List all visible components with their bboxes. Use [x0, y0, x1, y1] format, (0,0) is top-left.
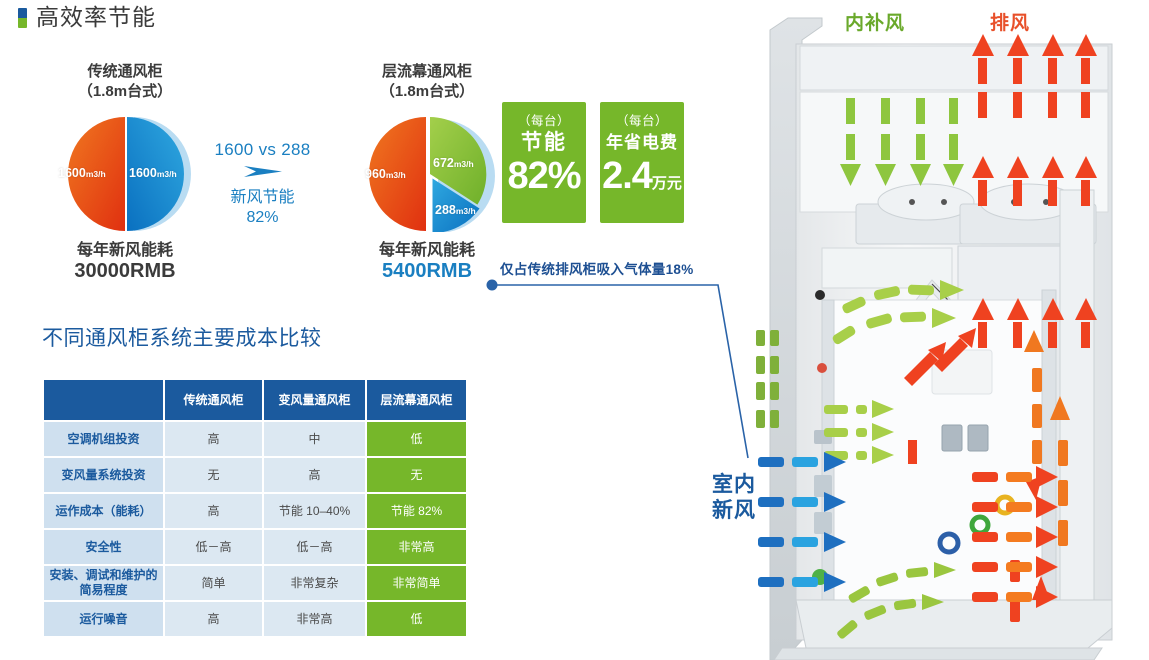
badge-0-big: 82	[507, 155, 547, 197]
badge-energy-saving: （每台） 节能 82%	[502, 102, 586, 223]
badge-0-top: （每台）	[502, 110, 586, 129]
badge-1-unit: 万元	[652, 175, 682, 192]
table-cell-0-1: 中	[264, 422, 365, 456]
table-cell-4-2: 非常简单	[367, 566, 466, 600]
pie-left-footer: 每年新风能耗 30000RMB	[10, 240, 240, 282]
page-title: 高效率节能	[36, 6, 156, 29]
vs-comparison-block: 1600 vs 288 新风节能 82%	[200, 140, 325, 228]
pie-right-chart: 960m3/h 672m3/h 288m3/h	[352, 112, 502, 232]
table-cell-1-1: 高	[264, 458, 365, 492]
label-inlet-air: 内补风	[845, 8, 905, 35]
badge-yearly-saving: （每台） 年省电费 2.4万元	[600, 102, 684, 223]
table-rowhead-4: 安装、调试和维护的简易程度	[44, 566, 163, 600]
table-row: 运行噪音 高 非常高 低	[44, 602, 466, 636]
pie-left-chart: 1600m3/h 1600m3/h	[50, 112, 200, 232]
table-col-header-1: 传统通风柜	[165, 380, 262, 420]
table-row: 安装、调试和维护的简易程度 简单 非常复杂 非常简单	[44, 566, 466, 600]
pie-right-title: 层流幕通风柜	[312, 62, 542, 82]
pie-left-slice-label-1: 1600m3/h	[129, 166, 177, 180]
cost-comparison-table: 传统通风柜 变风量通风柜 层流幕通风柜 空调机组投资 高 中 低 变风量系统投资…	[42, 378, 468, 638]
table-cell-1-0: 无	[165, 458, 262, 492]
table-col-header-3: 层流幕通风柜	[367, 380, 466, 420]
table-cell-1-2: 无	[367, 458, 466, 492]
fume-hood-illustration	[736, 0, 1149, 660]
pie-right-slice-label-0: 960m3/h	[365, 167, 406, 181]
pie-left-foot-value: 30000RMB	[10, 261, 240, 282]
badge-0-value: 82%	[502, 157, 586, 195]
header-square-icon	[18, 8, 27, 28]
vs-benefit-line1: 新风节能	[200, 188, 325, 208]
table-cell-3-1: 低－高	[264, 530, 365, 564]
badge-0-unit: %	[548, 155, 581, 197]
table-rowhead-0: 空调机组投资	[44, 422, 163, 456]
table-cell-2-0: 高	[165, 494, 262, 528]
table-cell-4-0: 简单	[165, 566, 262, 600]
table-rowhead-3: 安全性	[44, 530, 163, 564]
badge-1-top: （每台）	[600, 110, 684, 129]
table-cell-3-0: 低－高	[165, 530, 262, 564]
label-indoor-fresh-air: 室内 新风	[712, 472, 756, 524]
pie-left-foot-label: 每年新风能耗	[10, 240, 240, 261]
table-col-header-2: 变风量通风柜	[264, 380, 365, 420]
label-indoor-line2: 新风	[712, 498, 756, 524]
pie-right-slice-label-2: 288m3/h	[435, 203, 476, 217]
table-cell-0-2: 低	[367, 422, 466, 456]
table-rowhead-2: 运作成本（能耗）	[44, 494, 163, 528]
badge-1-mid: 年省电费	[600, 130, 684, 156]
table-body: 空调机组投资 高 中 低 变风量系统投资 无 高 无 运作成本（能耗） 高 节能…	[44, 422, 466, 636]
fume-hood-diagram-svg	[736, 0, 1149, 660]
vs-ratio-text: 1600 vs 288	[200, 140, 325, 160]
badge-1-value: 2.4万元	[600, 157, 684, 195]
table-row: 空调机组投资 高 中 低	[44, 422, 466, 456]
pie-left-slice-label-0: 1600m3/h	[58, 166, 106, 180]
table-header-row: 传统通风柜 变风量通风柜 层流幕通风柜	[44, 380, 466, 420]
table-cell-2-2: 节能 82%	[367, 494, 466, 528]
table-cell-2-1: 节能 10–40%	[264, 494, 365, 528]
table-row: 变风量系统投资 无 高 无	[44, 458, 466, 492]
callout-leader-line	[484, 272, 764, 472]
page-header: 高效率节能	[18, 6, 156, 29]
pie-left-subtitle: （1.8m台式）	[10, 82, 240, 102]
label-exhaust-air: 排风	[990, 8, 1030, 35]
pie-right-subtitle: （1.8m台式）	[312, 82, 542, 102]
table-rowhead-5: 运行噪音	[44, 602, 163, 636]
table-section-title: 不同通风柜系统主要成本比较	[42, 322, 322, 352]
table-row: 安全性 低－高 低－高 非常高	[44, 530, 466, 564]
table-col-header-0	[44, 380, 163, 420]
pie-right-slice-label-1: 672m3/h	[433, 156, 474, 170]
badge-1-big: 2.4	[602, 155, 652, 197]
table-cell-3-2: 非常高	[367, 530, 466, 564]
badge-0-mid: 节能	[502, 130, 586, 156]
table-cell-5-0: 高	[165, 602, 262, 636]
table-cell-5-2: 低	[367, 602, 466, 636]
vs-benefit-line2: 82%	[200, 208, 325, 228]
label-indoor-line1: 室内	[712, 472, 756, 498]
table-cell-4-1: 非常复杂	[264, 566, 365, 600]
table-cell-5-1: 非常高	[264, 602, 365, 636]
table-cell-0-0: 高	[165, 422, 262, 456]
table-rowhead-1: 变风量系统投资	[44, 458, 163, 492]
pie-left-title: 传统通风柜	[10, 62, 240, 82]
arrow-right-icon	[242, 164, 284, 179]
table-row: 运作成本（能耗） 高 节能 10–40% 节能 82%	[44, 494, 466, 528]
